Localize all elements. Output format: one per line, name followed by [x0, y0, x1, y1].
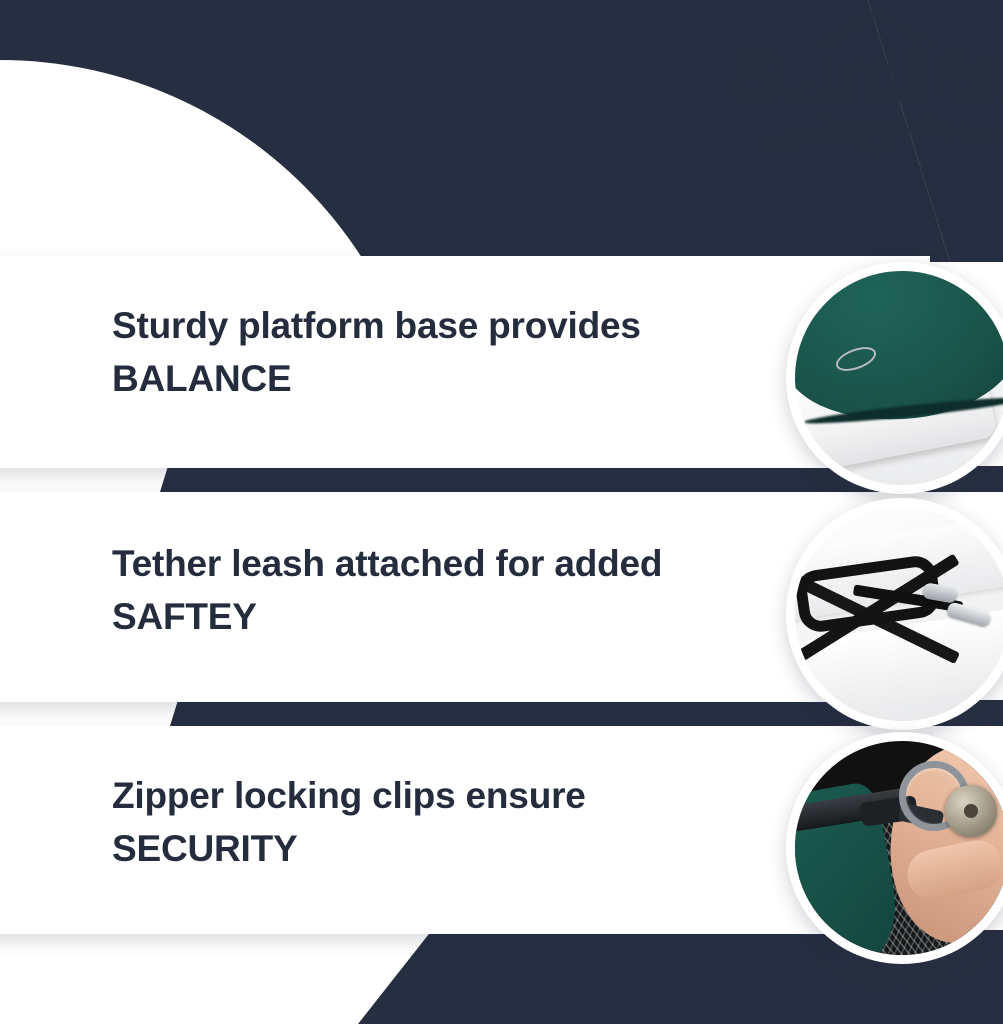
feature-photo-3 [786, 732, 1003, 964]
black-tether-leash-photo [795, 507, 1003, 721]
feature-emphasis-2: SAFTEY [112, 591, 752, 644]
brand-tagline: FLEX-HEIGHT PET CARRIER [762, 122, 1003, 155]
feature-lead-2: Tether leash attached for added [112, 538, 752, 591]
brand-wordmark: SturdiBag [732, 37, 1003, 115]
feature-emphasis-3: SECURITY [112, 823, 752, 876]
feature-text-2: Tether leash attached for added SAFTEY [112, 538, 752, 643]
product-feature-infographic: Sturdy platform base provides BALANCE Te… [0, 0, 1003, 1024]
feature-text-1: Sturdy platform base provides BALANCE [112, 300, 752, 405]
feature-emphasis-1: BALANCE [112, 353, 752, 406]
feature-photo-1 [786, 262, 1003, 494]
feature-lead-3: Zipper locking clips ensure [112, 770, 752, 823]
feature-photo-2 [786, 498, 1003, 730]
feature-text-3: Zipper locking clips ensure SECURITY [112, 770, 752, 875]
feature-lead-1: Sturdy platform base provides [112, 300, 752, 353]
green-carrier-with-platform-base-photo [795, 271, 1003, 485]
green-fabric-shape [795, 271, 1003, 431]
zipper-locking-clips-photo [795, 741, 1003, 955]
lock-medallion-icon [945, 785, 997, 837]
brand-logo: SturdiBag FLEX-HEIGHT PET CARRIER [726, 4, 1003, 180]
